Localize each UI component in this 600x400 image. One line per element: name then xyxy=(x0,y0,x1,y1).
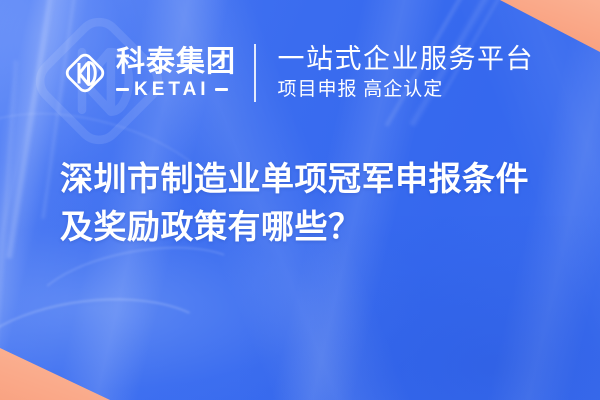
brand-wordmark: 科泰集团 KETAI xyxy=(116,47,236,100)
tagline-secondary: 项目申报 高企认定 xyxy=(278,78,535,102)
brand-logo[interactable]: 科泰集团 KETAI xyxy=(60,45,236,101)
tagline-primary: 一站式企业服务平台 xyxy=(278,44,535,74)
wordmark-dash-right xyxy=(215,88,228,91)
promo-banner: 科泰集团 KETAI 一站式企业服务平台 项目申报 高企认定 深圳市制造业单项冠… xyxy=(0,0,600,400)
ketai-diamond-kp-monogram-icon xyxy=(60,45,110,101)
tagline-block: 一站式企业服务平台 项目申报 高企认定 xyxy=(278,44,535,102)
banner-header: 科泰集团 KETAI 一站式企业服务平台 项目申报 高企认定 xyxy=(60,44,534,102)
brand-name-cn: 科泰集团 xyxy=(116,47,236,78)
header-divider xyxy=(254,44,256,102)
brand-name-en: KETAI xyxy=(134,80,210,100)
brand-name-en-row: KETAI xyxy=(116,80,236,100)
wordmark-dash-left xyxy=(116,88,129,91)
headline-title: 深圳市制造业单项冠军申报条件及奖励政策有哪些？ xyxy=(60,155,560,251)
